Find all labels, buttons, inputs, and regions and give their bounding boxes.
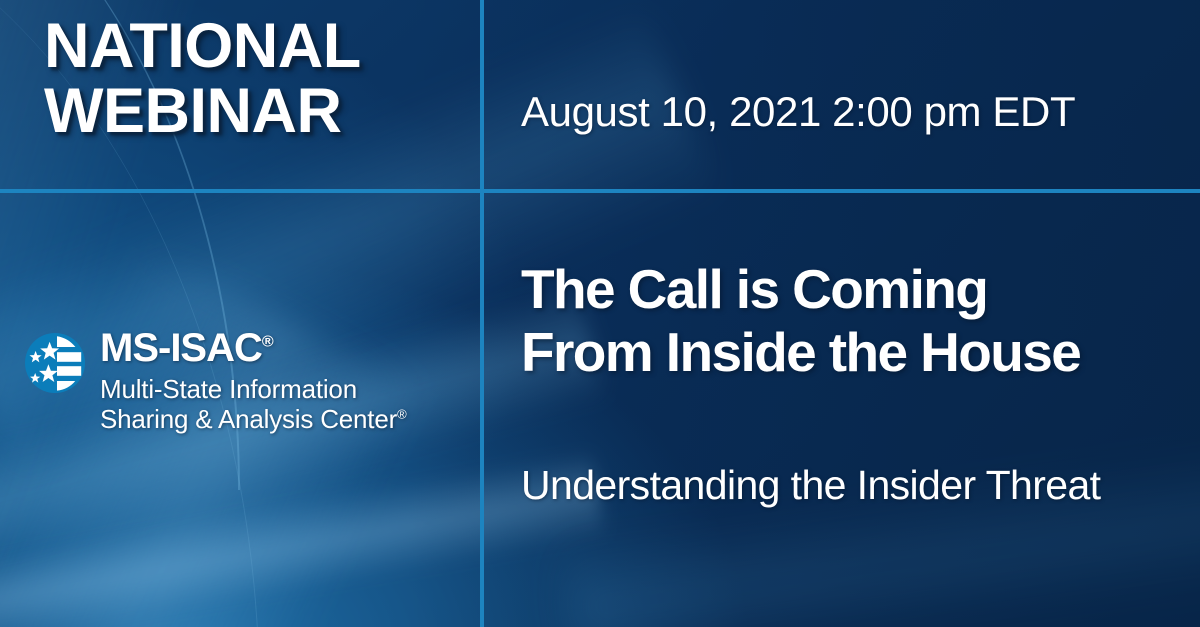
event-type-line-2: WEBINAR xyxy=(44,79,474,144)
webinar-title: The Call is Coming From Inside the House xyxy=(521,258,1181,383)
ms-isac-logo: MS-ISAC® Multi-State Information Sharing… xyxy=(24,328,406,435)
webinar-title-line-1: The Call is Coming xyxy=(521,258,1181,321)
ms-isac-wordmark-text: MS-ISAC xyxy=(100,326,262,370)
event-type-line-1: NATIONAL xyxy=(44,14,474,79)
webinar-subtitle: Understanding the Insider Threat xyxy=(521,462,1181,509)
webinar-promo-banner: NATIONAL WEBINAR August 10, 2021 2:00 pm… xyxy=(0,0,1200,627)
ms-isac-tagline-line-1: Multi-State Information xyxy=(100,374,357,404)
ms-isac-wordmark: MS-ISAC® xyxy=(100,328,406,368)
webinar-title-line-2: From Inside the House xyxy=(521,321,1181,384)
ms-isac-logo-text: MS-ISAC® Multi-State Information Sharing… xyxy=(100,328,406,435)
ms-isac-shield-stars-stripes-emblem xyxy=(24,332,86,394)
horizontal-divider xyxy=(0,189,1200,193)
ms-isac-tagline: Multi-State Information Sharing & Analys… xyxy=(100,375,406,435)
registered-mark-icon: ® xyxy=(397,406,406,421)
event-datetime: August 10, 2021 2:00 pm EDT xyxy=(521,88,1075,136)
registered-mark-icon: ® xyxy=(262,334,274,351)
event-type-heading: NATIONAL WEBINAR xyxy=(44,14,474,144)
ms-isac-tagline-line-2: Sharing & Analysis Center xyxy=(100,404,397,434)
vertical-divider xyxy=(480,0,484,627)
